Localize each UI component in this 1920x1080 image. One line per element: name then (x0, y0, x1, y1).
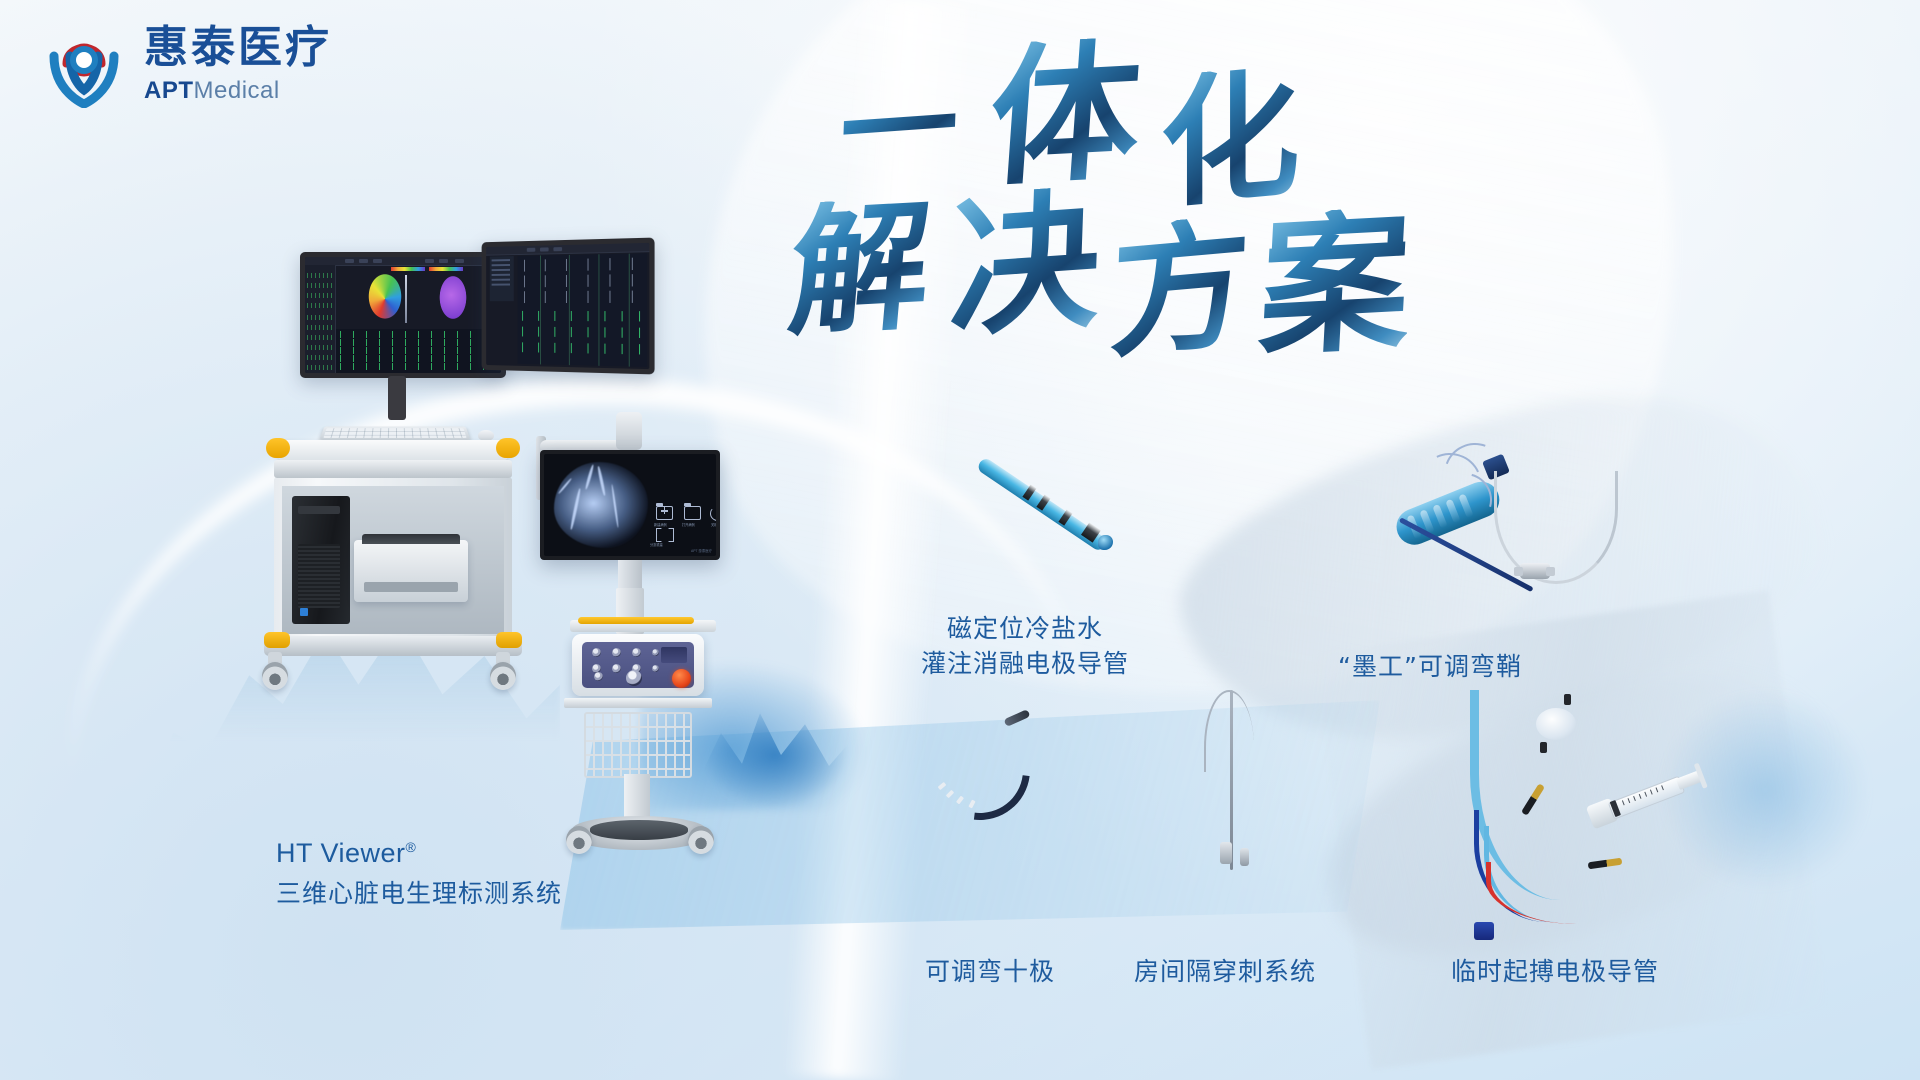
monitor-stem (388, 376, 406, 420)
apt-medical-logo-icon (40, 20, 128, 108)
catheter-overlay (405, 275, 407, 323)
pacing-connector-block (1474, 922, 1494, 940)
trademark-symbol: ® (406, 839, 417, 855)
cart-handle-left[interactable] (266, 438, 290, 458)
rf-generator-console (560, 620, 730, 870)
label-ht-viewer-en-text: HT Viewer (276, 838, 406, 868)
irrigated-ablation-catheter-icon (980, 455, 1170, 575)
transseptal-dilator-hub (1240, 848, 1249, 866)
console-shelf (564, 698, 712, 708)
console-caster-right (688, 826, 714, 854)
transseptal-guidewire-curve (1204, 690, 1254, 772)
ecg-monitor-screen (486, 243, 649, 369)
headline-char-1: 一 (838, 66, 960, 193)
headline-char-2: 体 (985, 36, 1145, 195)
label-steerable-sheath-line1: “墨工”可调弯鞘 (1290, 650, 1570, 685)
transseptal-hub (1220, 842, 1232, 864)
segmentation-icon[interactable] (656, 528, 674, 542)
label-decapolar-catheter: 可调弯十极 (880, 955, 1100, 990)
poster-canvas: 惠泰医疗 APTMedical 一 体 化 解 决 方 案 (0, 0, 1920, 1080)
cart-shelf (274, 460, 512, 478)
console-column (624, 774, 650, 822)
segmentation-icon-label: 分割重建 (650, 542, 663, 547)
label-pacing-catheter-line1: 临时起搏电极导管 (1400, 955, 1710, 990)
mapping-ecg-traces (336, 329, 501, 373)
label-transseptal-system-line1: 房间隔穿刺系统 (1080, 955, 1370, 990)
printer (354, 540, 468, 602)
label-decapolar-catheter-line1: 可调弯十极 (880, 955, 1100, 990)
console-main-port[interactable] (626, 670, 642, 686)
decapolar-shaft (910, 700, 1050, 840)
pacing-lead-red (1486, 862, 1599, 924)
label-ht-viewer: HT Viewer® 三维心脏电生理标测系统 (276, 835, 562, 912)
decapolar-connector (1003, 709, 1030, 727)
headline-char-3: 化 (1160, 64, 1299, 217)
headline-char-7: 案 (1256, 206, 1414, 364)
decapolar-catheter-icon (930, 720, 1050, 820)
syringe (1587, 761, 1709, 830)
label-pacing-catheter: 临时起搏电极导管 (1400, 955, 1710, 990)
pc-tower (292, 496, 350, 624)
steerable-sheath-icon (1390, 435, 1680, 635)
power-icon-label: 关机 (711, 522, 716, 527)
headline-char-4: 解 (784, 196, 936, 344)
console-storage-basket (584, 712, 692, 778)
lat-map-model (363, 273, 407, 325)
label-ablation-catheter: 磁定位冷盐水 灌注消融电极导管 (860, 612, 1190, 681)
new-folder-icon[interactable] (656, 506, 673, 520)
cart-bumper-right (496, 632, 522, 648)
folder-icon-label: 打开病例 (682, 522, 695, 527)
console-ground-port[interactable] (594, 672, 603, 681)
label-transseptal-system: 房间隔穿刺系统 (1080, 955, 1370, 990)
cart-caster-right (490, 662, 516, 690)
console-caster-left (566, 826, 592, 854)
heart-display-monitor: 新建病例 打开病例 关机 分割重建 APT 惠泰医疗 (540, 450, 720, 560)
keyboard[interactable] (319, 426, 470, 440)
screen-watermark: APT 惠泰医疗 (691, 548, 712, 553)
pacing-balloon (1536, 708, 1576, 740)
brand-name-en-bold: APT (144, 77, 194, 104)
headline-char-5: 决 (948, 184, 1103, 345)
mapping-monitor (300, 252, 506, 378)
cart-base (264, 636, 522, 656)
label-steerable-sheath: “墨工”可调弯鞘 (1290, 650, 1570, 685)
brand-name-cn: 惠泰医疗 (144, 26, 332, 70)
pacing-catheter-icon (1470, 690, 1800, 940)
monitor-arm-head (616, 412, 642, 450)
cart-worktop (278, 440, 508, 460)
emergency-stop-button[interactable] (672, 669, 691, 688)
brand-name-en: APTMedical (144, 79, 332, 103)
ablation-catheter-tip (1098, 535, 1113, 550)
mapping-monitor-screen (305, 257, 501, 373)
console-base-cover (590, 820, 688, 840)
headline-char-6: 方 (1108, 213, 1252, 366)
ecg-monitor (482, 238, 655, 375)
mapping-side-panel (305, 265, 336, 373)
heart-monitor-neck (618, 560, 642, 590)
console-tray-bumper (578, 617, 694, 624)
console-lcd (661, 647, 687, 663)
brand-logo: 惠泰医疗 APTMedical (40, 20, 332, 108)
heart-display-screen: 新建病例 打开病例 关机 分割重建 APT 惠泰医疗 (544, 454, 716, 556)
label-ht-viewer-en: HT Viewer® (276, 835, 562, 872)
folder-icon[interactable] (684, 506, 701, 520)
ecg-lead-list (490, 256, 514, 301)
cart-handle-right[interactable] (496, 438, 520, 458)
cart-caster-left (262, 662, 288, 690)
label-ablation-catheter-line1: 磁定位冷盐水 (860, 612, 1190, 647)
voltage-map-model (435, 275, 471, 325)
label-ablation-catheter-line2: 灌注消融电极导管 (860, 647, 1190, 682)
brand-wordmark: 惠泰医疗 APTMedical (144, 26, 332, 103)
cart-bumper-left (264, 632, 290, 648)
new-folder-icon-label: 新建病例 (654, 522, 667, 527)
headline-calligraphy: 一 体 化 解 决 方 案 (960, 50, 1600, 340)
console-unit (572, 634, 704, 696)
sheath-tube (1494, 471, 1618, 584)
transseptal-needle-icon (1190, 690, 1280, 890)
ecg-waveform-area (517, 253, 647, 367)
label-ht-viewer-cn: 三维心脏电生理标测系统 (276, 877, 562, 912)
brand-name-en-light: Medical (194, 77, 280, 104)
